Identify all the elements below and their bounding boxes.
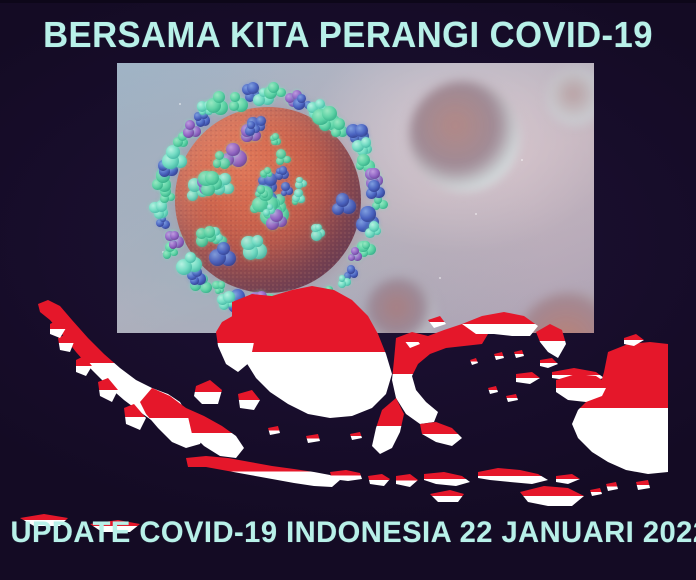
spike-protein: [279, 166, 288, 175]
island-sumbawa: [424, 472, 470, 486]
spike-protein: [213, 159, 222, 168]
covid-update-poster: BERSAMA KITA PERANGI COVID-19: [0, 0, 696, 580]
island-bangka: [194, 380, 222, 404]
indonesia-map: [0, 276, 696, 536]
island-speck-1: [470, 358, 478, 365]
spike-protein: [272, 133, 279, 140]
island-speck-10: [636, 480, 650, 490]
spike-protein: [247, 121, 254, 128]
island-speck-3: [514, 350, 524, 358]
spike-protein: [267, 204, 273, 210]
island-obi: [540, 358, 558, 368]
virion-blurred-upper-icon: [409, 81, 519, 191]
dust-speck: [521, 159, 523, 161]
spike-protein: [226, 143, 240, 157]
spike-protein: [368, 180, 380, 192]
island-speck-15: [428, 316, 446, 328]
island-halmahera: [536, 324, 566, 358]
map-landmasses: [20, 286, 668, 532]
island-speck-6: [350, 432, 362, 440]
region-sulawesi: [392, 324, 488, 424]
spike-protein: [347, 265, 355, 273]
island-lombok: [396, 474, 418, 487]
spike-protein: [351, 247, 359, 255]
top-edge-hairline: [0, 0, 696, 3]
spike-protein: [217, 242, 230, 255]
island-speck-7: [268, 426, 280, 435]
spike-protein: [357, 154, 369, 166]
island-bali: [368, 474, 390, 486]
spike-protein: [355, 124, 368, 137]
island-speck-5: [506, 394, 518, 402]
spike-protein: [229, 101, 239, 111]
island-speck-11: [590, 488, 602, 496]
island-speck-4: [488, 386, 498, 394]
spike-protein: [170, 231, 179, 240]
island-alor: [556, 474, 580, 484]
region-jawa: [186, 456, 340, 487]
island-sumba: [430, 490, 464, 502]
spike-protein: [252, 235, 264, 247]
spike-protein: [296, 177, 303, 184]
spike-protein: [360, 206, 375, 221]
spike-protein: [369, 221, 379, 231]
region-papua: [572, 342, 668, 474]
spike-protein: [297, 94, 306, 103]
region-sumatra-tail: [186, 408, 244, 458]
spike-protein: [276, 149, 286, 159]
spike-protein: [256, 116, 266, 126]
island-flores: [478, 468, 548, 484]
region-sulawesi-southeast: [420, 422, 462, 446]
island-timor: [520, 486, 584, 506]
spike-protein: [263, 209, 269, 215]
spike-protein: [336, 193, 349, 206]
spike-protein: [294, 189, 303, 198]
spike-protein: [185, 120, 195, 130]
dust-speck: [475, 213, 477, 215]
headline-top: BERSAMA KITA PERANGI COVID-19: [14, 14, 682, 56]
spike-protein: [369, 168, 380, 179]
island-buru: [516, 372, 540, 384]
island-speck-9: [606, 482, 618, 491]
region-sulawesi-south: [372, 398, 404, 454]
island-speck-8: [306, 434, 320, 443]
island-speck-2: [494, 352, 504, 360]
island-belitung: [238, 390, 260, 410]
spike-protein: [230, 92, 240, 102]
headline-bottom: UPDATE COVID-19 INDONESIA 22 JANUARI 202…: [10, 516, 685, 550]
spike-protein: [361, 137, 371, 147]
